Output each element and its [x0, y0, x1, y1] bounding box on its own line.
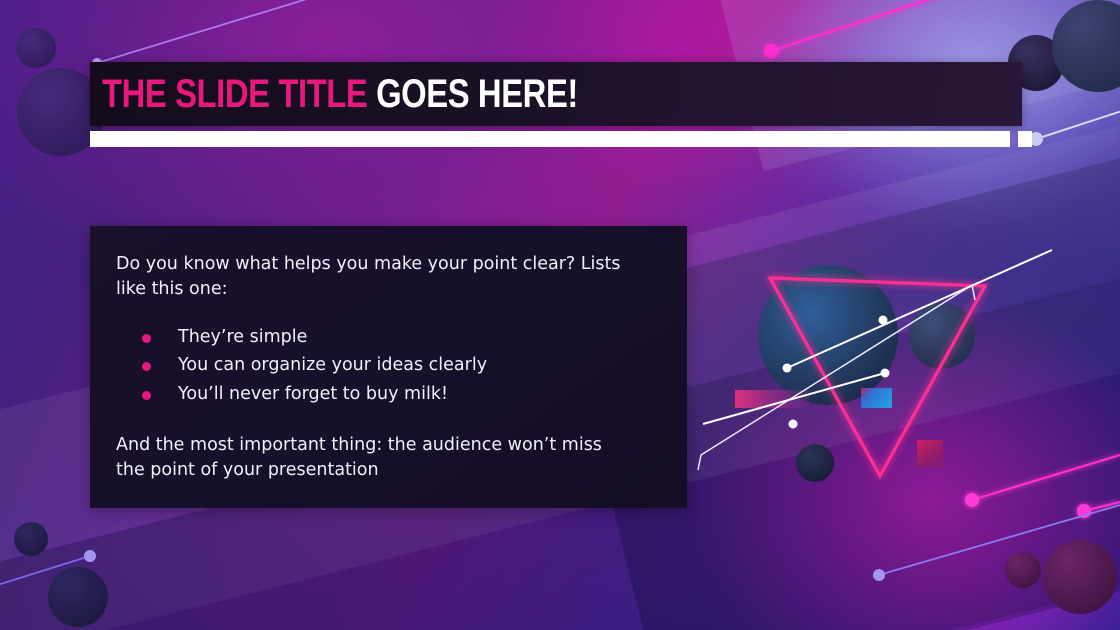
- title-plain-text: GOES HERE!: [367, 72, 578, 116]
- outro-paragraph: And the most important thing: the audien…: [116, 433, 636, 484]
- cyan-rectangle-icon: [861, 388, 892, 408]
- white-line-1-dot-start-icon: [783, 364, 792, 373]
- white-line-1-dot-mid-icon: [879, 316, 888, 325]
- magenta-square-icon: [917, 440, 943, 467]
- presentation-slide: THE SLIDE TITLE GOES HERE! Do you know w…: [0, 0, 1120, 630]
- title-accent-text: THE SLIDE TITLE: [102, 72, 367, 116]
- violet-line-left-bottom-dot-icon: [84, 550, 96, 562]
- white-line-2-dot-icon: [789, 420, 798, 429]
- violet-line-left-top-icon: [97, 0, 330, 63]
- intro-paragraph: Do you know what helps you make your poi…: [116, 252, 636, 303]
- page-title: THE SLIDE TITLE GOES HERE!: [102, 74, 578, 114]
- bottom-left-sphere-icon: [14, 522, 48, 556]
- list-item: You’ll never forget to buy milk!: [134, 382, 659, 407]
- title-underline-tick: [1018, 131, 1032, 147]
- content-body: Do you know what helps you make your poi…: [90, 226, 687, 484]
- neon-line-bottom-1-icon: [972, 455, 1120, 500]
- bullet-dot-icon: [142, 391, 151, 400]
- white-line-2-dot-end-icon: [881, 369, 890, 378]
- neon-line-top-icon: [771, 0, 940, 51]
- neon-line-top-dot-icon: [764, 44, 778, 58]
- slide-title-bar: THE SLIDE TITLE GOES HERE!: [90, 62, 1022, 126]
- list-item: You can organize your ideas clearly: [134, 353, 659, 378]
- bullet-list: They’re simple You can organize your ide…: [116, 325, 659, 407]
- list-item-label: You can organize your ideas clearly: [178, 355, 487, 375]
- bottom-right-sphere-icon: [1005, 552, 1041, 588]
- bullet-dot-icon: [142, 362, 151, 371]
- bottom-right-sphere-2-icon: [1043, 540, 1117, 614]
- content-box: Do you know what helps you make your poi…: [90, 226, 687, 508]
- medium-blue-sphere-icon: [909, 303, 975, 369]
- top-left-sphere-icon: [16, 28, 56, 68]
- small-dark-sphere-icon: [796, 444, 834, 482]
- title-underline-bar: [90, 131, 1010, 147]
- neon-line-bottom-1-dot-icon: [965, 493, 979, 507]
- violet-line-bottom-right-dot-icon: [873, 569, 885, 581]
- list-item-label: You’ll never forget to buy milk!: [178, 384, 448, 404]
- bullet-dot-icon: [142, 334, 151, 343]
- list-item-label: They’re simple: [178, 327, 307, 347]
- top-right-sphere-2-icon: [1052, 0, 1120, 92]
- list-item: They’re simple: [134, 325, 659, 350]
- bottom-left-sphere-2-icon: [48, 567, 108, 627]
- lavender-line-title-icon: [1036, 110, 1120, 139]
